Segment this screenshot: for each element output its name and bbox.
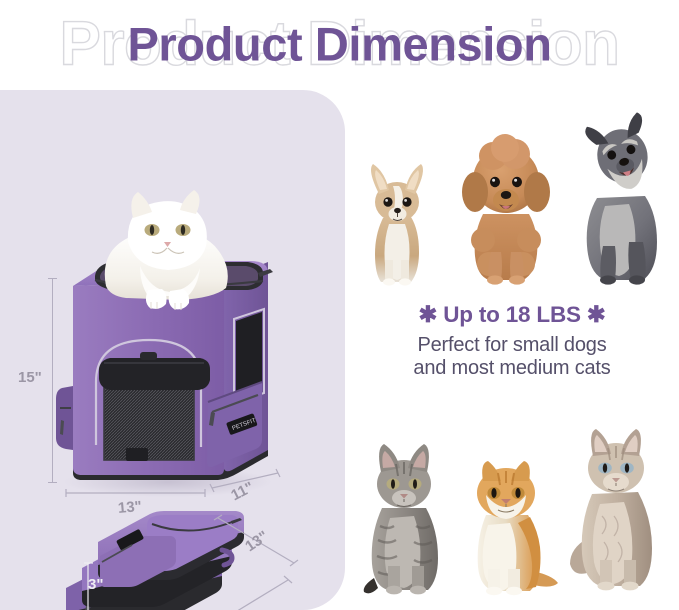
- weight-claim-subtext-line1: Perfect for small dogs: [345, 334, 679, 358]
- page-title-text: Product Dimension: [127, 17, 551, 72]
- product-dimension-panel: PETSFIT: [0, 90, 345, 610]
- weight-claim-subtext-line2: and most medium cats: [345, 357, 679, 381]
- dog-schnauzer: [567, 102, 675, 292]
- weight-claim-headline: ✱ Up to 18 LBS ✱: [345, 302, 679, 328]
- weight-claim-subtext: Perfect for small dogs and most medium c…: [345, 334, 679, 381]
- cat-lynx-point-longhair: [562, 412, 670, 597]
- dimension-label-width: 13": [117, 498, 142, 517]
- dimension-label-folded-height: 3": [88, 576, 103, 593]
- dog-toy-poodle: [453, 122, 559, 292]
- cat-orange-exotic-shorthair: [456, 437, 560, 597]
- height-measure-line: [52, 278, 53, 483]
- weight-claim: ✱ Up to 18 LBS ✱ Perfect for small dogs …: [345, 302, 679, 381]
- cats-row: [345, 402, 679, 597]
- dogs-row: [345, 102, 679, 292]
- infographic-page: Product Dimension Product Dimension: [0, 0, 679, 610]
- dog-chihuahua: [349, 142, 445, 292]
- dimension-label-height: 15": [18, 369, 42, 386]
- cat-gray-tabby: [354, 422, 454, 597]
- page-title: Product Dimension Product Dimension: [0, 0, 679, 88]
- pet-compatibility-section: ✱ Up to 18 LBS ✱ Perfect for small dogs …: [345, 90, 679, 610]
